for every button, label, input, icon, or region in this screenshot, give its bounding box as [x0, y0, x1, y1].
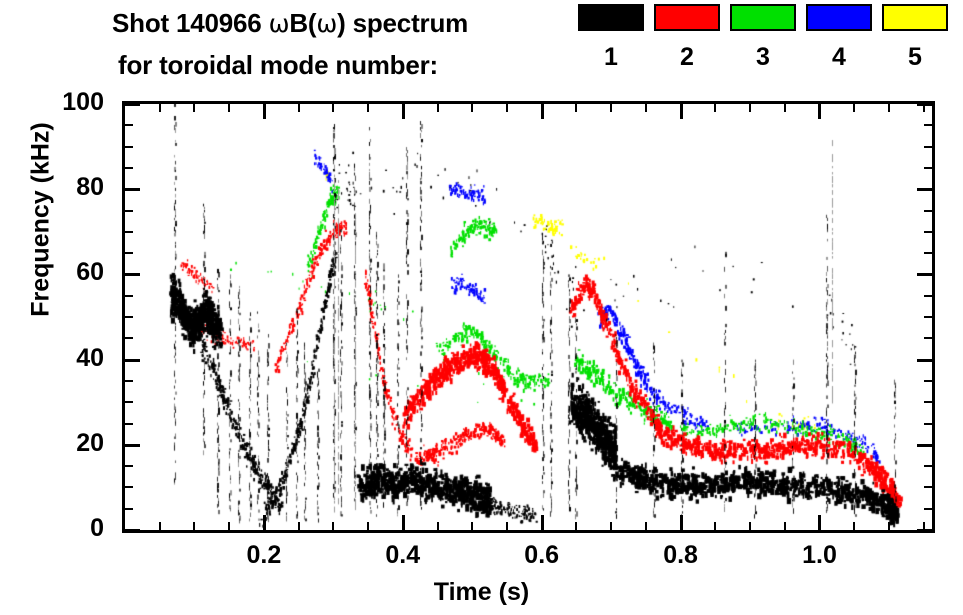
x-minor-tick-top	[784, 104, 786, 112]
y-major-tick-right	[917, 359, 932, 362]
y-minor-tick-right	[924, 167, 932, 169]
y-major-tick	[125, 359, 140, 362]
x-tick-label-1.0: 1.0	[779, 543, 859, 568]
y-minor-tick	[125, 167, 133, 169]
y-minor-tick-right	[924, 124, 932, 126]
x-minor-tick-top	[332, 104, 334, 112]
title-line-2: for toroidal mode number:	[118, 50, 438, 81]
y-major-tick-right	[917, 444, 932, 447]
x-minor-tick-top	[575, 104, 577, 112]
y-minor-tick	[125, 231, 133, 233]
x-minor-tick-top	[506, 104, 508, 112]
x-major-tick-top	[818, 104, 821, 119]
x-minor-tick	[575, 522, 577, 530]
y-minor-tick-right	[924, 401, 932, 403]
x-minor-tick	[923, 522, 925, 530]
x-minor-tick-top	[645, 104, 647, 112]
x-minor-tick-top	[610, 104, 612, 112]
y-minor-tick	[125, 252, 133, 254]
y-tick-label-0: 0	[44, 516, 104, 541]
title-line-1: Shot 140966 ωB(ω) spectrum	[112, 8, 468, 39]
legend-entry-2: 2	[654, 4, 720, 70]
omega-symbol-2: ω	[316, 9, 337, 38]
y-minor-tick-right	[924, 210, 932, 212]
x-minor-tick	[610, 522, 612, 530]
x-minor-tick-top	[923, 104, 925, 112]
x-major-tick	[680, 515, 683, 530]
x-minor-tick-top	[714, 104, 716, 112]
x-minor-tick	[159, 522, 161, 530]
title-suffix: ) spectrum	[337, 8, 468, 38]
x-minor-tick	[784, 522, 786, 530]
x-minor-tick	[228, 522, 230, 530]
y-minor-tick-right	[924, 423, 932, 425]
plot-area	[122, 101, 935, 533]
y-minor-tick	[125, 295, 133, 297]
y-major-tick	[125, 188, 140, 191]
x-minor-tick-top	[437, 104, 439, 112]
y-major-tick	[125, 444, 140, 447]
x-major-tick	[402, 515, 405, 530]
y-minor-tick	[125, 146, 133, 148]
spectrogram-figure: Shot 140966 ωB(ω) spectrum for toroidal …	[0, 0, 963, 615]
legend-swatch-4	[806, 4, 872, 31]
legend: 12345	[578, 4, 958, 90]
y-minor-tick	[125, 486, 133, 488]
y-minor-tick	[125, 316, 133, 318]
x-minor-tick	[471, 522, 473, 530]
y-minor-tick	[125, 465, 133, 467]
y-minor-tick	[125, 423, 133, 425]
legend-swatch-5	[882, 4, 948, 31]
legend-label-4: 4	[806, 45, 872, 70]
y-minor-tick-right	[924, 316, 932, 318]
x-minor-tick	[332, 522, 334, 530]
y-minor-tick-right	[924, 486, 932, 488]
x-minor-tick-top	[853, 104, 855, 112]
y-axis-title: Frequency (kHz)	[27, 105, 56, 335]
x-minor-tick-top	[888, 104, 890, 112]
y-minor-tick-right	[924, 231, 932, 233]
y-tick-label-40: 40	[44, 346, 104, 371]
x-tick-label-0.6: 0.6	[502, 543, 582, 568]
x-minor-tick	[437, 522, 439, 530]
y-minor-tick	[125, 337, 133, 339]
legend-entry-4: 4	[806, 4, 872, 70]
legend-label-2: 2	[654, 45, 720, 70]
x-major-tick-top	[680, 104, 683, 119]
x-axis-title: Time (s)	[0, 578, 963, 607]
x-minor-tick-top	[749, 104, 751, 112]
y-major-tick	[125, 103, 140, 106]
legend-label-1: 1	[578, 45, 644, 70]
x-minor-tick-top	[298, 104, 300, 112]
y-minor-tick	[125, 401, 133, 403]
y-major-tick	[125, 273, 140, 276]
legend-label-5: 5	[882, 45, 948, 70]
x-minor-tick-top	[193, 104, 195, 112]
x-minor-tick	[506, 522, 508, 530]
spectrogram-canvas	[125, 104, 932, 530]
legend-label-3: 3	[730, 45, 796, 70]
y-minor-tick	[125, 210, 133, 212]
x-minor-tick	[853, 522, 855, 530]
y-minor-tick-right	[924, 465, 932, 467]
x-minor-tick-top	[471, 104, 473, 112]
title-mid: B(	[289, 8, 316, 38]
y-major-tick-right	[917, 273, 932, 276]
y-minor-tick-right	[924, 295, 932, 297]
x-minor-tick	[367, 522, 369, 530]
x-tick-label-0.8: 0.8	[641, 543, 721, 568]
y-minor-tick-right	[924, 508, 932, 510]
omega-symbol-1: ω	[269, 9, 290, 38]
legend-swatch-3	[730, 4, 796, 31]
y-minor-tick-right	[924, 252, 932, 254]
y-minor-tick	[125, 508, 133, 510]
legend-swatch-2	[654, 4, 720, 31]
y-minor-tick-right	[924, 337, 932, 339]
x-major-tick	[541, 515, 544, 530]
legend-entry-5: 5	[882, 4, 948, 70]
title-prefix: Shot 140966	[112, 8, 269, 38]
y-minor-tick	[125, 380, 133, 382]
x-minor-tick-top	[159, 104, 161, 112]
x-major-tick	[818, 515, 821, 530]
x-major-tick-top	[541, 104, 544, 119]
x-major-tick	[263, 515, 266, 530]
x-major-tick-top	[263, 104, 266, 119]
x-minor-tick	[714, 522, 716, 530]
x-minor-tick	[645, 522, 647, 530]
x-minor-tick	[749, 522, 751, 530]
x-major-tick-top	[402, 104, 405, 119]
x-tick-label-0.2: 0.2	[224, 543, 304, 568]
x-tick-label-0.4: 0.4	[363, 543, 443, 568]
y-major-tick-right	[917, 188, 932, 191]
legend-entry-1: 1	[578, 4, 644, 70]
x-minor-tick-top	[367, 104, 369, 112]
x-minor-tick-top	[228, 104, 230, 112]
y-minor-tick	[125, 124, 133, 126]
y-major-tick	[125, 529, 140, 532]
x-minor-tick	[298, 522, 300, 530]
y-minor-tick-right	[924, 146, 932, 148]
legend-swatch-1	[578, 4, 644, 31]
legend-entry-3: 3	[730, 4, 796, 70]
y-tick-label-20: 20	[44, 431, 104, 456]
x-minor-tick	[193, 522, 195, 530]
y-minor-tick-right	[924, 380, 932, 382]
x-minor-tick	[888, 522, 890, 530]
